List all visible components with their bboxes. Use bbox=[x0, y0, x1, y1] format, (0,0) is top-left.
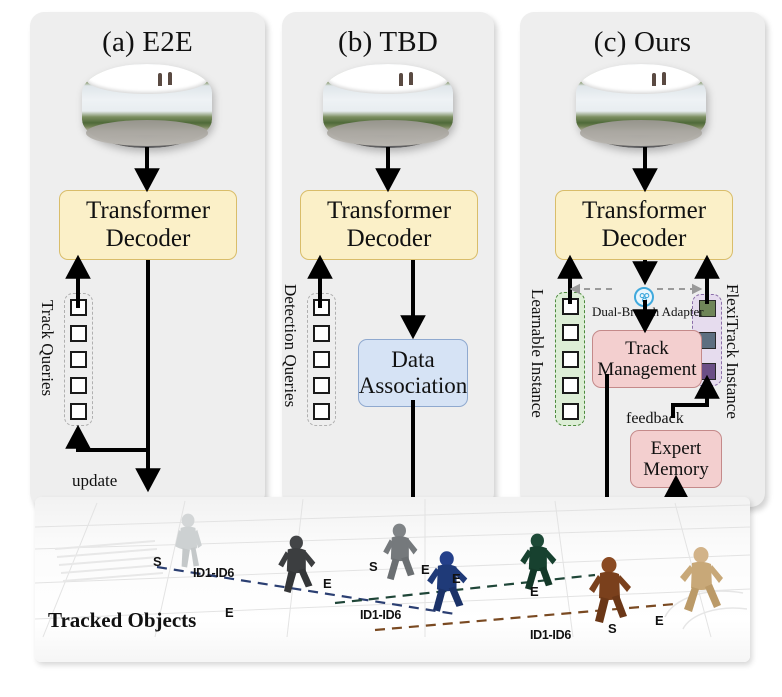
panel-e2e: (a) E2E Transformer Decoder bbox=[30, 12, 265, 507]
track-end-marker-2: E bbox=[421, 562, 430, 577]
figure-canvas: (a) E2E Transformer Decoder bbox=[0, 0, 782, 697]
track-id-label-2: ID1-ID6 bbox=[360, 608, 401, 622]
panel-b-data-association: Data Association bbox=[358, 339, 468, 407]
panel-a-track-queries-stack bbox=[64, 293, 93, 426]
panel-c-feedback-label: feedback bbox=[626, 410, 684, 428]
query-cell bbox=[70, 403, 87, 420]
panel-c-learnable-instance-label: Learnable Instance bbox=[527, 289, 547, 418]
panel-ours: (c) Ours Transformer Decoder bbox=[520, 12, 765, 507]
assoc-line-2: Association bbox=[359, 373, 468, 399]
tracked-objects-scene: ID1-ID6 ID1-ID6 ID1-ID6 S E S E E E E S … bbox=[35, 497, 750, 662]
panel-a-title: (a) E2E bbox=[30, 26, 265, 59]
pedestrian-2 bbox=[278, 536, 315, 593]
track-line-3 bbox=[375, 604, 675, 630]
learnable-instance-cell bbox=[562, 298, 579, 315]
panel-a-transformer-decoder: Transformer Decoder bbox=[59, 190, 237, 260]
panel-c-title: (c) Ours bbox=[520, 26, 765, 59]
query-cell bbox=[70, 377, 87, 394]
panel-b-panoramic-ring bbox=[323, 64, 453, 148]
track-end-marker-2b: E bbox=[452, 571, 461, 586]
track-start-marker-3: S bbox=[608, 621, 617, 636]
panel-c-expert-memory: Expert Memory bbox=[630, 430, 722, 488]
decoder-line-2: Decoder bbox=[106, 225, 191, 253]
track-id-label-3: ID1-ID6 bbox=[530, 628, 571, 642]
learnable-instance-cell bbox=[562, 324, 579, 341]
track-end-marker-1: E bbox=[323, 576, 332, 591]
decoder-line-1: Transformer bbox=[582, 197, 706, 225]
track-mid-marker-e: E bbox=[225, 605, 234, 620]
panel-a-track-queries-label: Track Queries bbox=[37, 300, 57, 396]
panel-c-transformer-decoder: Transformer Decoder bbox=[555, 190, 733, 260]
panel-tbd: (b) TBD Transformer Decoder bbox=[282, 12, 494, 507]
panel-c-flexitrack-instance-label: FlexiTrack Instance bbox=[722, 284, 742, 419]
panel-b-title: (b) TBD bbox=[282, 26, 494, 59]
track-end-marker-3b: E bbox=[655, 613, 664, 628]
panel-c-learnable-instance-stack bbox=[555, 292, 585, 426]
query-cell bbox=[313, 325, 330, 342]
query-cell bbox=[70, 299, 87, 316]
query-cell bbox=[70, 351, 87, 368]
assoc-line-1: Data bbox=[391, 347, 434, 373]
panel-c-adapter-label: Dual-Branch Adapter bbox=[592, 304, 704, 320]
query-cell bbox=[313, 403, 330, 420]
expert-line-1: Expert bbox=[651, 438, 702, 459]
query-cell bbox=[313, 299, 330, 316]
panel-a-panoramic-ring bbox=[82, 64, 212, 148]
expert-line-2: Memory bbox=[643, 459, 708, 480]
learnable-instance-cell bbox=[562, 377, 579, 394]
pedestrian-3 bbox=[383, 524, 417, 581]
panel-b-transformer-decoder: Transformer Decoder bbox=[300, 190, 478, 260]
query-cell bbox=[313, 377, 330, 394]
decoder-line-1: Transformer bbox=[86, 197, 210, 225]
panel-b-detection-queries-label: Detection Queries bbox=[280, 284, 300, 407]
track-mgmt-line-2: Management bbox=[597, 359, 696, 380]
panel-c-panoramic-ring bbox=[576, 64, 706, 148]
panel-a-update-label: update bbox=[72, 471, 117, 491]
track-start-marker-2: S bbox=[369, 559, 378, 574]
decoder-line-1: Transformer bbox=[327, 197, 451, 225]
panel-c-track-management: Track Management bbox=[592, 330, 702, 388]
learnable-instance-cell bbox=[562, 403, 579, 420]
track-start-marker-1: S bbox=[153, 554, 162, 569]
panel-b-detection-queries-stack bbox=[307, 293, 336, 426]
query-cell bbox=[313, 351, 330, 368]
track-end-marker-3: E bbox=[530, 584, 539, 599]
decoder-line-2: Decoder bbox=[602, 225, 687, 253]
decoder-line-2: Decoder bbox=[347, 225, 432, 253]
pedestrian-6 bbox=[589, 557, 631, 623]
scene-graphics bbox=[35, 497, 750, 662]
track-id-label-1: ID1-ID6 bbox=[193, 566, 234, 580]
query-cell bbox=[70, 325, 87, 342]
learnable-instance-cell bbox=[562, 351, 579, 368]
scene-title: Tracked Objects bbox=[48, 608, 196, 633]
track-mgmt-line-1: Track bbox=[625, 338, 669, 359]
